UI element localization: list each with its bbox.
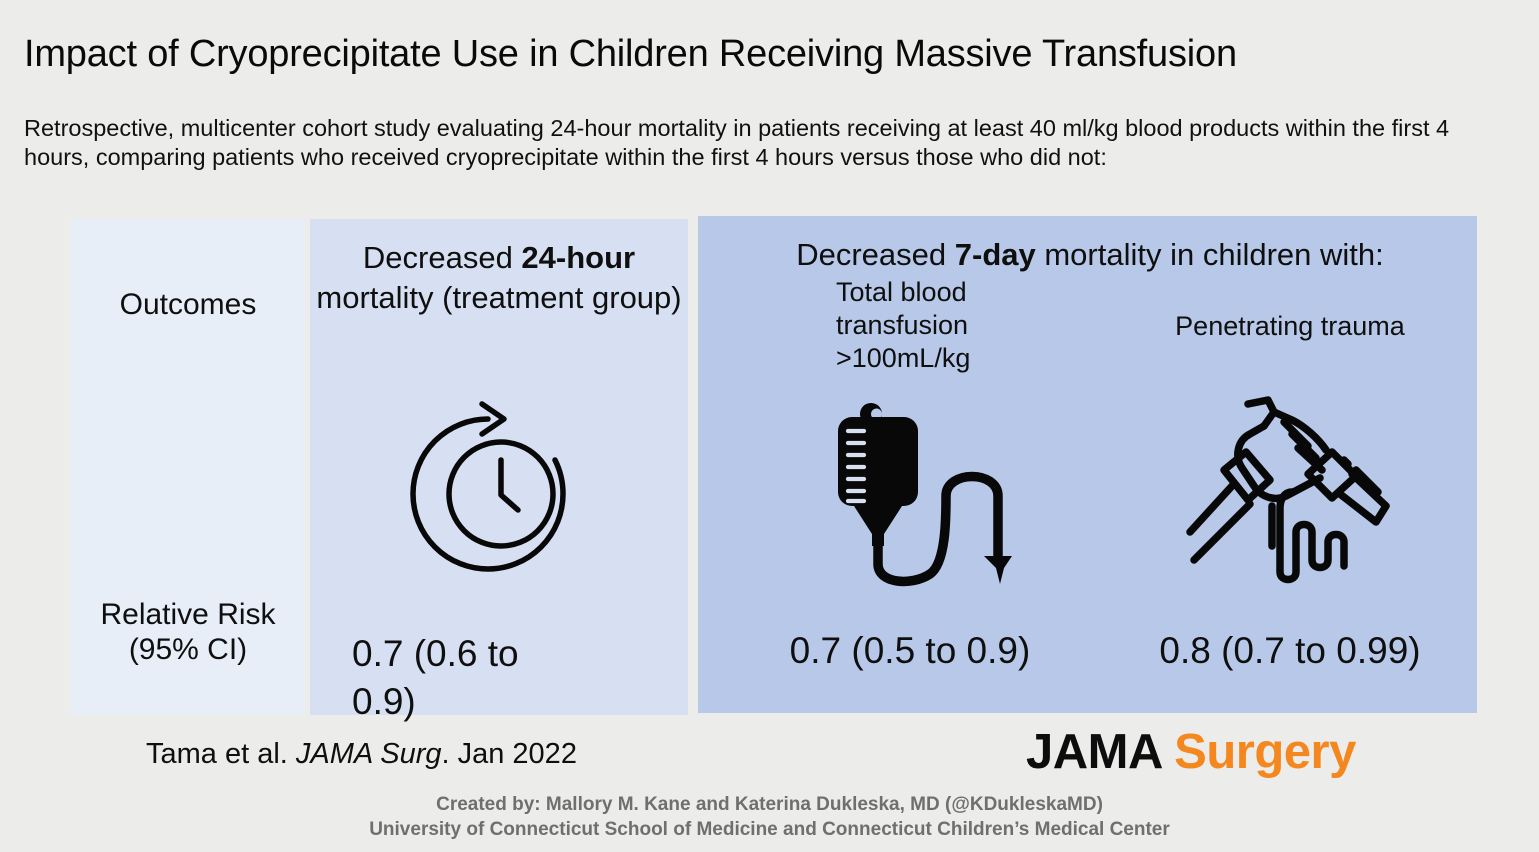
jama-surgery-logo: JAMA Surgery: [1026, 724, 1356, 780]
iv-blood-bag-icon: [820, 388, 1050, 588]
24hour-header-bold: 24-hour: [521, 240, 635, 275]
hand-knife-bleeding-icon: [1180, 382, 1420, 590]
citation: Tama et al. JAMA Surg. Jan 2022: [146, 738, 577, 771]
footer-credits: Created by: Mallory M. Kane and Katerina…: [0, 793, 1539, 842]
7day-header-bold: 7-day: [955, 237, 1036, 272]
citation-journal: JAMA Surg: [296, 738, 442, 770]
citation-date: . Jan 2022: [442, 738, 577, 770]
7day-column-header: Decreased 7-day mortality in children wi…: [712, 238, 1468, 272]
logo-surgery-text: Surgery: [1174, 725, 1356, 779]
24hour-header-post: mortality (treatment group): [316, 280, 681, 315]
footer-line-institution: University of Connecticut School of Medi…: [0, 818, 1539, 843]
clock-arrow-icon: [400, 392, 605, 582]
subcolumn-label-penetrating-trauma: Penetrating trauma: [1100, 310, 1480, 343]
footer-line-created-by: Created by: Mallory M. Kane and Katerina…: [0, 793, 1539, 818]
citation-authors: Tama et al.: [146, 738, 296, 770]
row-label-outcomes: Outcomes: [71, 288, 305, 323]
logo-jama-text: JAMA: [1026, 725, 1161, 779]
24hour-header-pre: Decreased: [363, 240, 522, 275]
row-label-relative-risk: Relative Risk (95% CI): [81, 598, 295, 668]
7day-header-post: mortality in children with:: [1036, 237, 1384, 272]
value-24hour-relative-risk: 0.7 (0.6 to 0.9): [352, 630, 582, 726]
page-title: Impact of Cryoprecipitate Use in Childre…: [24, 34, 1514, 76]
value-total-blood-relative-risk: 0.7 (0.5 to 0.9): [730, 630, 1090, 672]
value-penetrating-trauma-relative-risk: 0.8 (0.7 to 0.99): [1100, 630, 1480, 672]
visual-abstract-page: Impact of Cryoprecipitate Use in Childre…: [0, 0, 1539, 852]
7day-header-pre: Decreased: [796, 237, 955, 272]
24hour-column-header: Decreased 24-hour mortality (treatment g…: [312, 238, 686, 319]
study-description: Retrospective, multicenter cohort study …: [24, 114, 1484, 171]
subcolumn-label-total-blood-transfusion: Total blood transfusion >100mL/kg: [836, 276, 1066, 375]
